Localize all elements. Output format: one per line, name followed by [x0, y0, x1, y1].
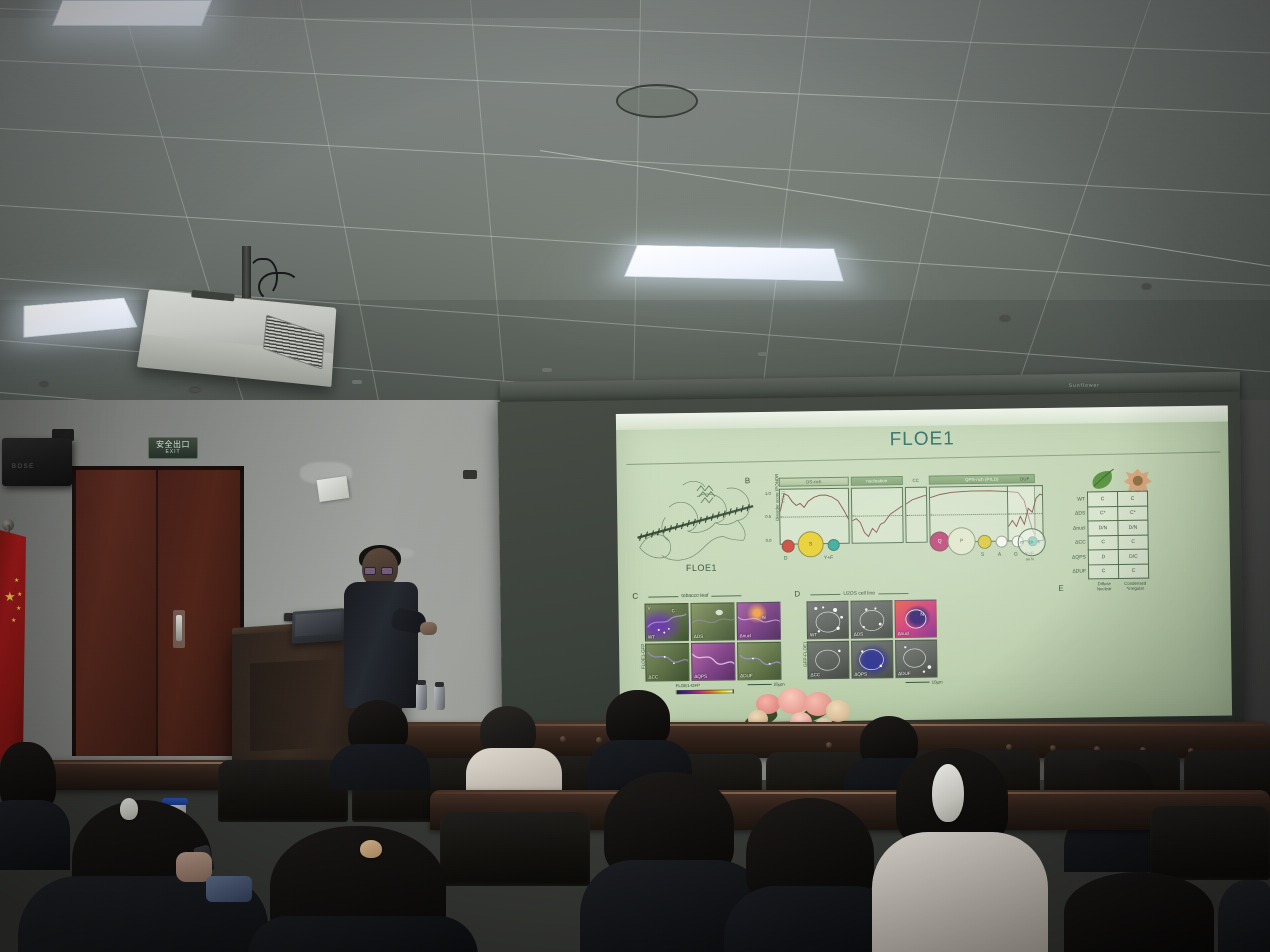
protein-structure-diagram [631, 470, 760, 572]
ceiling-fixture-dot [1142, 284, 1151, 289]
desk-stud [826, 742, 832, 748]
micrograph-label: ΔCC [810, 672, 820, 677]
table-cell: D/N [1118, 520, 1148, 535]
micrograph-cell: N Δnucl [894, 600, 937, 639]
panel-d-letter: D [794, 589, 800, 598]
panel-d-scale-bar: 10µm [906, 679, 943, 685]
sprinkler-head [542, 368, 552, 372]
micrograph-cell: ΔDS [850, 600, 893, 639]
table-cell: C [1117, 491, 1147, 506]
table-cell: C* [1088, 506, 1118, 521]
micrograph-mark-n: N [762, 615, 765, 620]
residue-circle-d [782, 540, 795, 553]
micrograph-label: Δnucl [898, 631, 910, 636]
panel-b-ytick: 1.0 [765, 491, 771, 496]
micrograph-mark-n: N [920, 612, 924, 618]
ceiling-fixture-dot [1000, 316, 1010, 321]
panel-c-lut-bar [676, 689, 734, 694]
exit-sign-chinese-label: 安全出口 [156, 441, 190, 449]
water-bottle [416, 684, 427, 710]
domain-bar-cc: CC [905, 476, 927, 485]
scale-bar-line [906, 681, 930, 683]
flag-star-icon: ★ [17, 592, 22, 598]
residue-circle-yf [828, 539, 840, 551]
micrograph-cell: ΔQPS [691, 642, 736, 681]
slide-title: FLOE1 [616, 424, 1228, 455]
desk-edge-highlight [434, 792, 1264, 794]
panel-e-row-label: Δnucl [1057, 525, 1085, 531]
table-row: C C [1088, 535, 1148, 550]
duf-composition-pie: 20 10 5 aa % [1017, 528, 1045, 556]
speaker-brand-label: BOSE [12, 464, 35, 470]
ceiling-light-panel [624, 245, 844, 281]
panel-e-row-label: ΔDUF [1058, 568, 1086, 574]
hair-clip [932, 764, 964, 822]
table-row: D D/C [1088, 549, 1148, 564]
projector-cable [258, 272, 300, 302]
residue-circle-s: S [797, 531, 823, 557]
flag-star-icon: ★ [11, 618, 16, 624]
micrograph-cell: WT [806, 601, 849, 640]
lecture-hall-photo: 安全出口 EXIT BOSE ★ ★ ★ ★ ★ Sunflower FLOE1 [0, 0, 1270, 952]
header-rule [810, 593, 840, 594]
suspended-ceiling [0, 0, 1270, 412]
double-door[interactable] [72, 466, 244, 756]
micrograph-label: Δnucl [740, 633, 752, 638]
panel-d-scale-text: 10µm [932, 679, 943, 684]
screen-brand-label: Sunflower [1069, 383, 1100, 389]
table-cell: C [1088, 535, 1118, 550]
duf-pie-unit: aa % [1026, 557, 1034, 561]
panel-e-row-label: ΔQPS [1058, 554, 1086, 560]
panel-b-ytick: 0.5 [765, 514, 771, 519]
micrograph-label: ΔQPS [854, 672, 867, 677]
panel-b-plot-cc [905, 487, 928, 543]
table-cell: D [1088, 550, 1118, 565]
door-leaf-right[interactable] [158, 470, 240, 756]
residue-label-d: D [784, 556, 788, 562]
residue-circle-a [996, 536, 1008, 548]
audience-shoulders [248, 916, 478, 952]
panel-e: E WT ΔDS Δnucl ΔCC [1057, 470, 1179, 610]
micrograph-cell: ΔQPS [851, 640, 894, 679]
laptop-screen [295, 611, 342, 636]
wall-notice-paper [317, 476, 350, 502]
table-cell: D/N [1088, 521, 1118, 536]
audience-shoulders [0, 800, 70, 870]
eyeglass-lens-right [381, 567, 393, 575]
table-row: D/N D/N [1088, 520, 1148, 535]
auditorium-seat[interactable] [1150, 806, 1270, 880]
audience-sleeve-cuff [206, 876, 252, 902]
ceiling-speaker-grille [616, 84, 698, 118]
panel-d-micrograph-grid: WT ΔDS N [806, 600, 937, 680]
panel-c-lut-caption: FLOE1-GFP [676, 683, 700, 688]
presenter-torso [344, 582, 418, 708]
door-handle[interactable] [176, 615, 182, 641]
slide-content: FLOE1 [616, 405, 1232, 724]
residue-circle-s2 [978, 535, 992, 549]
header-rule [711, 595, 741, 596]
micrograph-cell: ΔCC [807, 641, 850, 680]
micrograph-label: ΔDUF [898, 671, 911, 676]
presenter [340, 548, 420, 708]
duf-pie-tick: 10 [1029, 540, 1033, 544]
micrograph-label: ΔDUF [740, 673, 753, 678]
table-row: C C [1087, 491, 1147, 506]
panel-e-table: C C C* C* D/N D/N C C [1087, 491, 1149, 580]
water-bottle [434, 686, 445, 710]
water-bottle-cap [435, 682, 444, 687]
micrograph-cell: ΔDUF [895, 639, 938, 678]
micrograph-label: ΔDS [694, 634, 704, 639]
panel-e-row-label: ΔCC [1058, 539, 1086, 545]
auditorium-seat[interactable] [440, 812, 590, 886]
flag-star-icon: ★ [4, 590, 16, 603]
ceiling-fixture-dot [40, 382, 48, 386]
flag-star-icon: ★ [16, 606, 21, 612]
micrograph-cell: ΔDS [690, 602, 735, 641]
residue-label-yf: Y+F [824, 555, 833, 561]
residue-label-s: S [981, 552, 984, 558]
ceiling-light-panel [52, 0, 213, 26]
caption-line: *irregular [1119, 586, 1151, 592]
residue-label-g: G [1014, 551, 1018, 557]
panel-e-letter: E [1058, 584, 1063, 593]
micrograph-label: WT [648, 635, 655, 640]
panel-a: FLOE1 [631, 470, 761, 582]
panel-b-ytick: 0.0 [766, 538, 772, 543]
panel-c-header: tobacco leaf [648, 592, 741, 599]
leaf-glyph [1089, 469, 1115, 491]
panel-b-plot-nucleation [851, 487, 904, 544]
auditorium-seat[interactable] [218, 760, 348, 822]
wall-speaker: BOSE [2, 438, 72, 486]
micrograph-label: ΔQPS [694, 674, 707, 679]
eyeglass-lens-left [364, 567, 376, 575]
residue-circle-p: P [947, 527, 975, 555]
panel-e-col-caption-left: Diffuse Nuclear [1088, 581, 1120, 592]
sprinkler-head [352, 380, 362, 384]
laptop[interactable] [292, 608, 345, 644]
table-cell: D/C [1118, 549, 1148, 564]
header-rule [648, 596, 678, 597]
audience-head [1064, 872, 1214, 952]
table-cell: C [1087, 492, 1117, 507]
residue-label-a: A [998, 552, 1001, 558]
micrograph-cell: ΔCC [645, 643, 690, 682]
exit-sign: 安全出口 EXIT [148, 437, 198, 459]
desk-stud [596, 737, 602, 743]
micrograph-label: ΔCC [648, 674, 658, 679]
panel-e-col-caption-right: Condensed *irregular [1119, 581, 1151, 592]
panel-e-row-label: WT [1057, 496, 1085, 502]
table-cell: C [1118, 564, 1148, 579]
eyeglasses-icon [364, 567, 394, 575]
domain-bar-ds-rich: DS-rich [779, 477, 849, 487]
panel-d-header-label: U2OS cell line [843, 590, 875, 596]
sprinkler-head [758, 352, 768, 356]
presenter-hand [420, 622, 437, 635]
audience-shoulders [466, 748, 562, 796]
panel-d-header: U2OS cell line [810, 590, 908, 597]
audience-shoulders [872, 832, 1048, 952]
door-leaf-left[interactable] [76, 470, 156, 756]
table-cell: C [1088, 564, 1118, 579]
panel-c-micrograph-grid: V C WT ΔDS [644, 602, 781, 682]
audience-shoulders [330, 744, 430, 790]
panel-b: B Disorder score (PONDR VSL2) 1.0 0.5 0.… [745, 466, 1046, 578]
header-rule [878, 592, 908, 593]
micrograph-label: ΔDS [854, 632, 864, 637]
domain-bar-duf: DUF [1007, 474, 1043, 484]
micrograph-label: WT [810, 632, 817, 637]
table-row: C* C* [1088, 506, 1148, 521]
duf-pie-tick: 5 [1038, 540, 1040, 544]
panel-b-letter: B [745, 476, 750, 485]
hair-clip [120, 798, 138, 820]
water-bottle-cap [417, 680, 426, 685]
hair-clip [360, 840, 382, 858]
panel-c-letter: C [632, 592, 638, 601]
micrograph-cell: V C WT [644, 603, 689, 642]
national-flag: ★ ★ ★ ★ ★ [0, 530, 26, 765]
exit-sign-english-label: EXIT [165, 450, 180, 455]
caption-line: Nuclear [1088, 586, 1120, 592]
flag-star-icon: ★ [14, 578, 19, 584]
projection-screen: FLOE1 [616, 405, 1232, 724]
panel-c-header-label: tobacco leaf [681, 593, 708, 599]
table-cell: C* [1118, 506, 1148, 521]
desk-stud [560, 736, 566, 742]
domain-bar-nucleation: nucleation [851, 476, 903, 486]
ceiling-fixture-dot [190, 388, 200, 392]
table-row: C C [1088, 564, 1148, 579]
audience-head [1218, 880, 1270, 952]
duf-pie-tick: 20 [1020, 540, 1024, 544]
panel-a-caption: FLOE1 [686, 563, 717, 573]
micrograph-cell: ΔDUF [737, 641, 782, 680]
wall-sensor [463, 470, 477, 479]
micrograph-cell: N Δnucl [736, 602, 781, 641]
table-cell: C [1118, 535, 1148, 550]
panel-e-row-label: ΔDS [1057, 510, 1085, 516]
